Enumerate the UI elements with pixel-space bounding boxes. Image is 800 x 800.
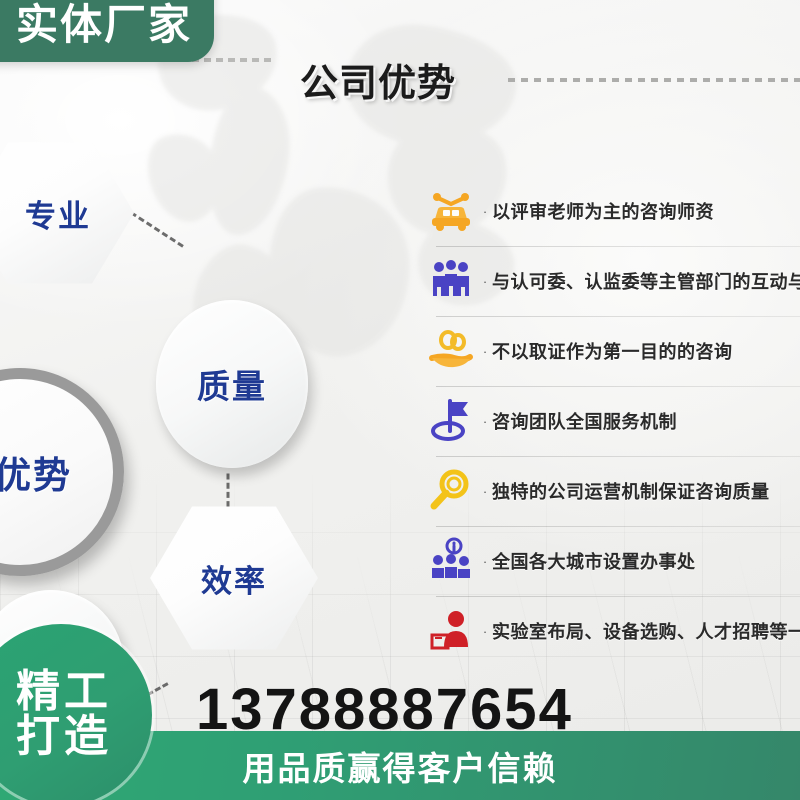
feature-text: 全国各大城市设置办事处 xyxy=(492,548,696,574)
person-document-icon xyxy=(424,605,478,657)
page-title: 公司优势 xyxy=(300,52,456,107)
node-zhuanye: 专业 xyxy=(0,138,134,288)
people-group-icon xyxy=(424,255,478,307)
node-xiaolv-label: 效率 xyxy=(201,556,267,601)
feature-text: 以评审老师为主的咨询师资 xyxy=(492,198,714,224)
feature-bullet: · xyxy=(478,275,492,288)
feature-row: · 以评审老师为主的咨询师资 xyxy=(424,176,800,246)
poster-canvas: 实体厂家 公司优势 专业 质量 优势 效率 资源 xyxy=(0,0,800,800)
corner-badge-label: 实体厂家 xyxy=(16,4,192,46)
hand-coins-icon xyxy=(424,325,478,377)
node-youshi-label: 优势 xyxy=(0,445,72,499)
node-youshi: 优势 xyxy=(0,368,124,576)
feature-row: · 不以取证作为第一目的的咨询 xyxy=(424,316,800,386)
feature-text: 咨询团队全国服务机制 xyxy=(492,408,677,434)
car-icon xyxy=(424,185,478,237)
feature-list: · 以评审老师为主的咨询师资 · 与认可委、认监委等主管部门的互动与互 xyxy=(424,176,800,666)
bottom-slogan-text: 用品质赢得客户信赖 xyxy=(243,742,558,790)
feature-bullet: · xyxy=(478,415,492,428)
feature-text: 实验室布局、设备选购、人才招聘等一站 xyxy=(492,618,800,644)
magnifier-icon xyxy=(424,465,478,517)
connector-line-1 xyxy=(130,211,184,247)
node-xiaolv: 效率 xyxy=(150,502,318,654)
feature-bullet: · xyxy=(478,485,492,498)
feature-bullet: · xyxy=(478,625,492,638)
feature-bullet: · xyxy=(478,345,492,358)
feature-text: 独特的公司运营机制保证咨询质量 xyxy=(492,478,770,504)
node-zhuanye-label: 专业 xyxy=(9,191,91,236)
title-dashed-rule xyxy=(508,78,800,82)
corner-badge: 实体厂家 xyxy=(0,0,214,62)
feature-text: 不以取证作为第一目的的咨询 xyxy=(492,338,733,364)
flag-globe-icon xyxy=(424,395,478,447)
feature-row: · 与认可委、认监委等主管部门的互动与互 xyxy=(424,246,800,316)
node-zhiliang-label: 质量 xyxy=(197,360,267,408)
people-info-icon xyxy=(424,535,478,587)
node-zhiliang: 质量 xyxy=(156,300,308,468)
quality-stamp-line1: 精工 xyxy=(10,670,112,715)
feature-row: · 实验室布局、设备选购、人才招聘等一站 xyxy=(424,596,800,666)
feature-bullet: · xyxy=(478,555,492,568)
feature-bullet: · xyxy=(478,205,492,218)
feature-text: 与认可委、认监委等主管部门的互动与互 xyxy=(492,268,800,294)
feature-row: · 咨询团队全国服务机制 xyxy=(424,386,800,456)
feature-row: · 独特的公司运营机制保证咨询质量 xyxy=(424,456,800,526)
quality-stamp-line2: 打造 xyxy=(10,715,112,760)
feature-row: · 全国各大城市设置办事处 xyxy=(424,526,800,596)
advantage-node-cluster: 专业 质量 优势 效率 资源 xyxy=(0,110,340,670)
